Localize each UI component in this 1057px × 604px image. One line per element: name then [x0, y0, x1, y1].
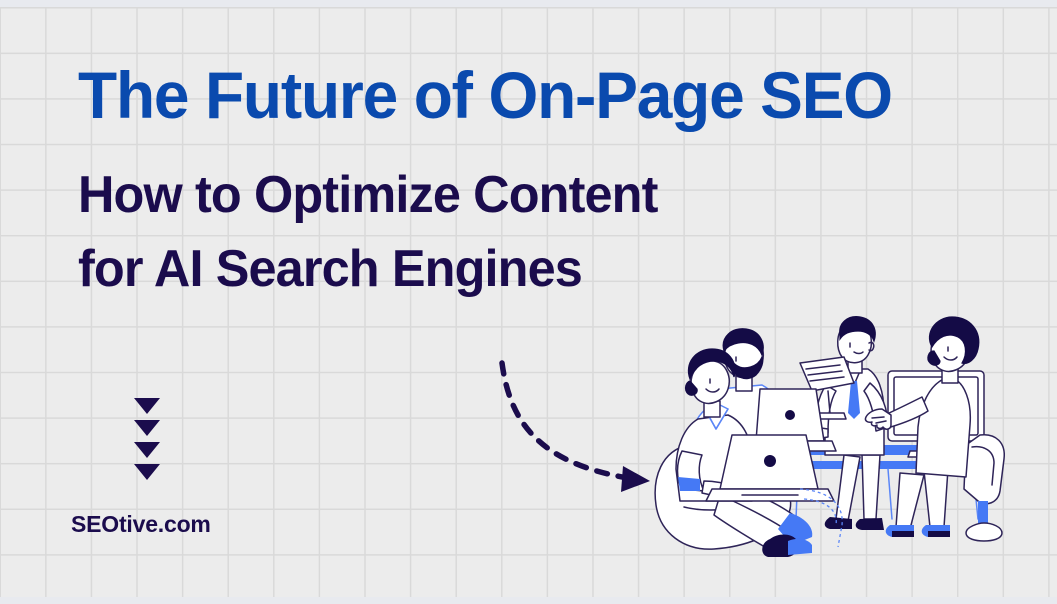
page-subtitle-line-1: How to Optimize Content [78, 158, 815, 232]
page-subtitle: How to Optimize Content for AI Search En… [78, 158, 815, 306]
chevron-down-icon [134, 464, 160, 480]
chevron-down-group [134, 398, 162, 486]
team-working-illustration: .ln { fill:#fff; stroke:#2e2458; stroke-… [648, 305, 1048, 580]
page-subtitle-line-2: for AI Search Engines [78, 232, 815, 306]
page-title: The Future of On-Page SEO [78, 58, 951, 132]
chevron-down-icon [134, 442, 160, 458]
brand-logo-text: SEOtive.com [71, 511, 211, 538]
chevron-down-icon [134, 420, 160, 436]
poster-content: The Future of On-Page SEO How to Optimiz… [0, 0, 1057, 604]
chevron-down-icon [134, 398, 160, 414]
poster-canvas: The Future of On-Page SEO How to Optimiz… [0, 0, 1057, 604]
